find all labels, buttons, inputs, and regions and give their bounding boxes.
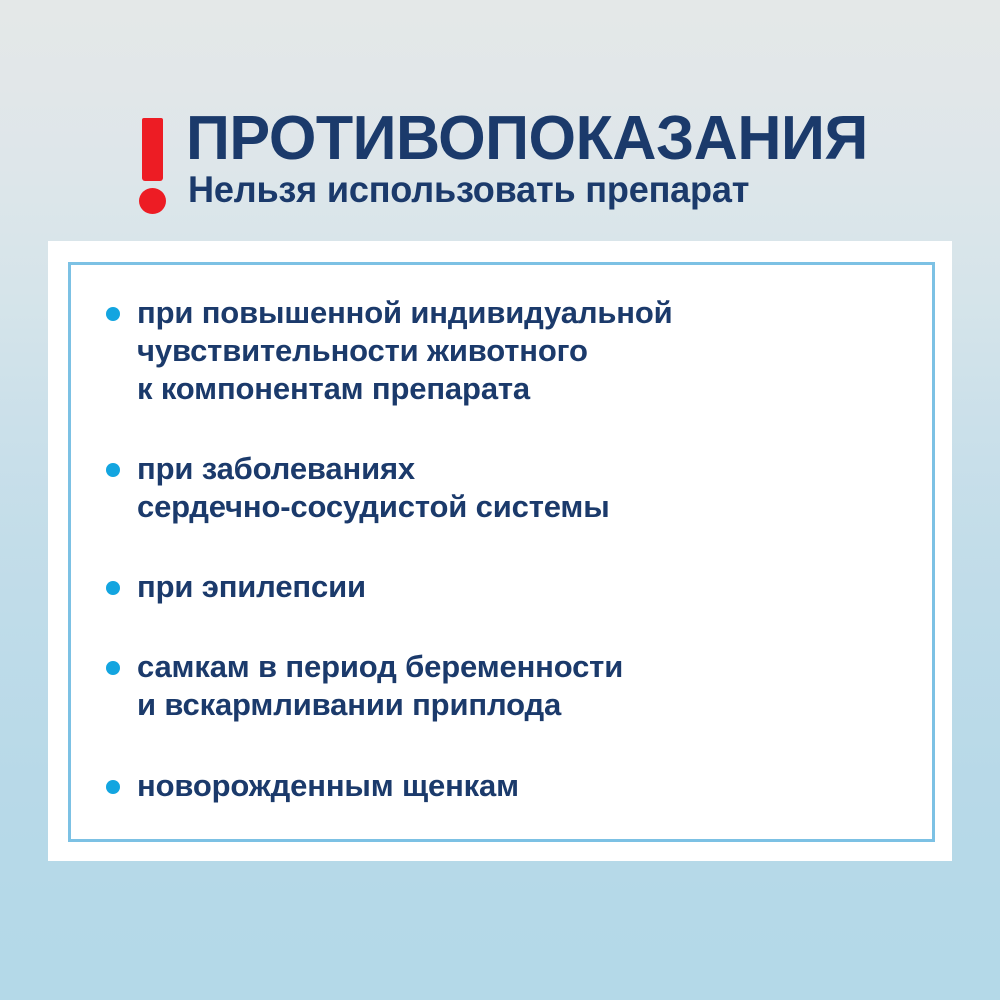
- contraindications-list: при повышенной индивидуальной чувствител…: [106, 294, 924, 839]
- bullet-dot-icon: [106, 307, 120, 321]
- page-title: ПРОТИВОПОКАЗАНИЯ: [186, 108, 868, 170]
- contraindications-poster: ПРОТИВОПОКАЗАНИЯ Нельзя использовать пре…: [0, 0, 1000, 1000]
- bullet-dot-icon: [106, 463, 120, 477]
- list-item-text: самкам в период беременности и вскармлив…: [137, 648, 924, 724]
- bullet-dot-icon: [106, 780, 120, 794]
- list-item: при повышенной индивидуальной чувствител…: [106, 294, 924, 408]
- card-inner-border: при повышенной индивидуальной чувствител…: [68, 262, 935, 842]
- list-item: самкам в период беременности и вскармлив…: [106, 648, 924, 724]
- list-item-text: при заболеваниях сердечно-сосудистой сис…: [137, 450, 924, 526]
- bullet-dot-icon: [106, 581, 120, 595]
- contraindications-card: при повышенной индивидуальной чувствител…: [48, 241, 952, 861]
- list-item: при эпилепсии: [106, 568, 924, 606]
- list-item: новорожденным щенкам: [106, 767, 924, 805]
- exclamation-dot: [139, 188, 166, 214]
- exclamation-bar: [142, 118, 163, 181]
- list-item-text: при эпилепсии: [137, 568, 924, 606]
- page-subtitle: Нельзя использовать препарат: [188, 170, 749, 210]
- list-item: при заболеваниях сердечно-сосудистой сис…: [106, 450, 924, 526]
- list-item-text: при повышенной индивидуальной чувствител…: [137, 294, 924, 408]
- poster-header: ПРОТИВОПОКАЗАНИЯ Нельзя использовать пре…: [131, 108, 891, 218]
- exclamation-mark-icon: [131, 114, 171, 214]
- bullet-dot-icon: [106, 661, 120, 675]
- list-item-text: новорожденным щенкам: [137, 767, 924, 805]
